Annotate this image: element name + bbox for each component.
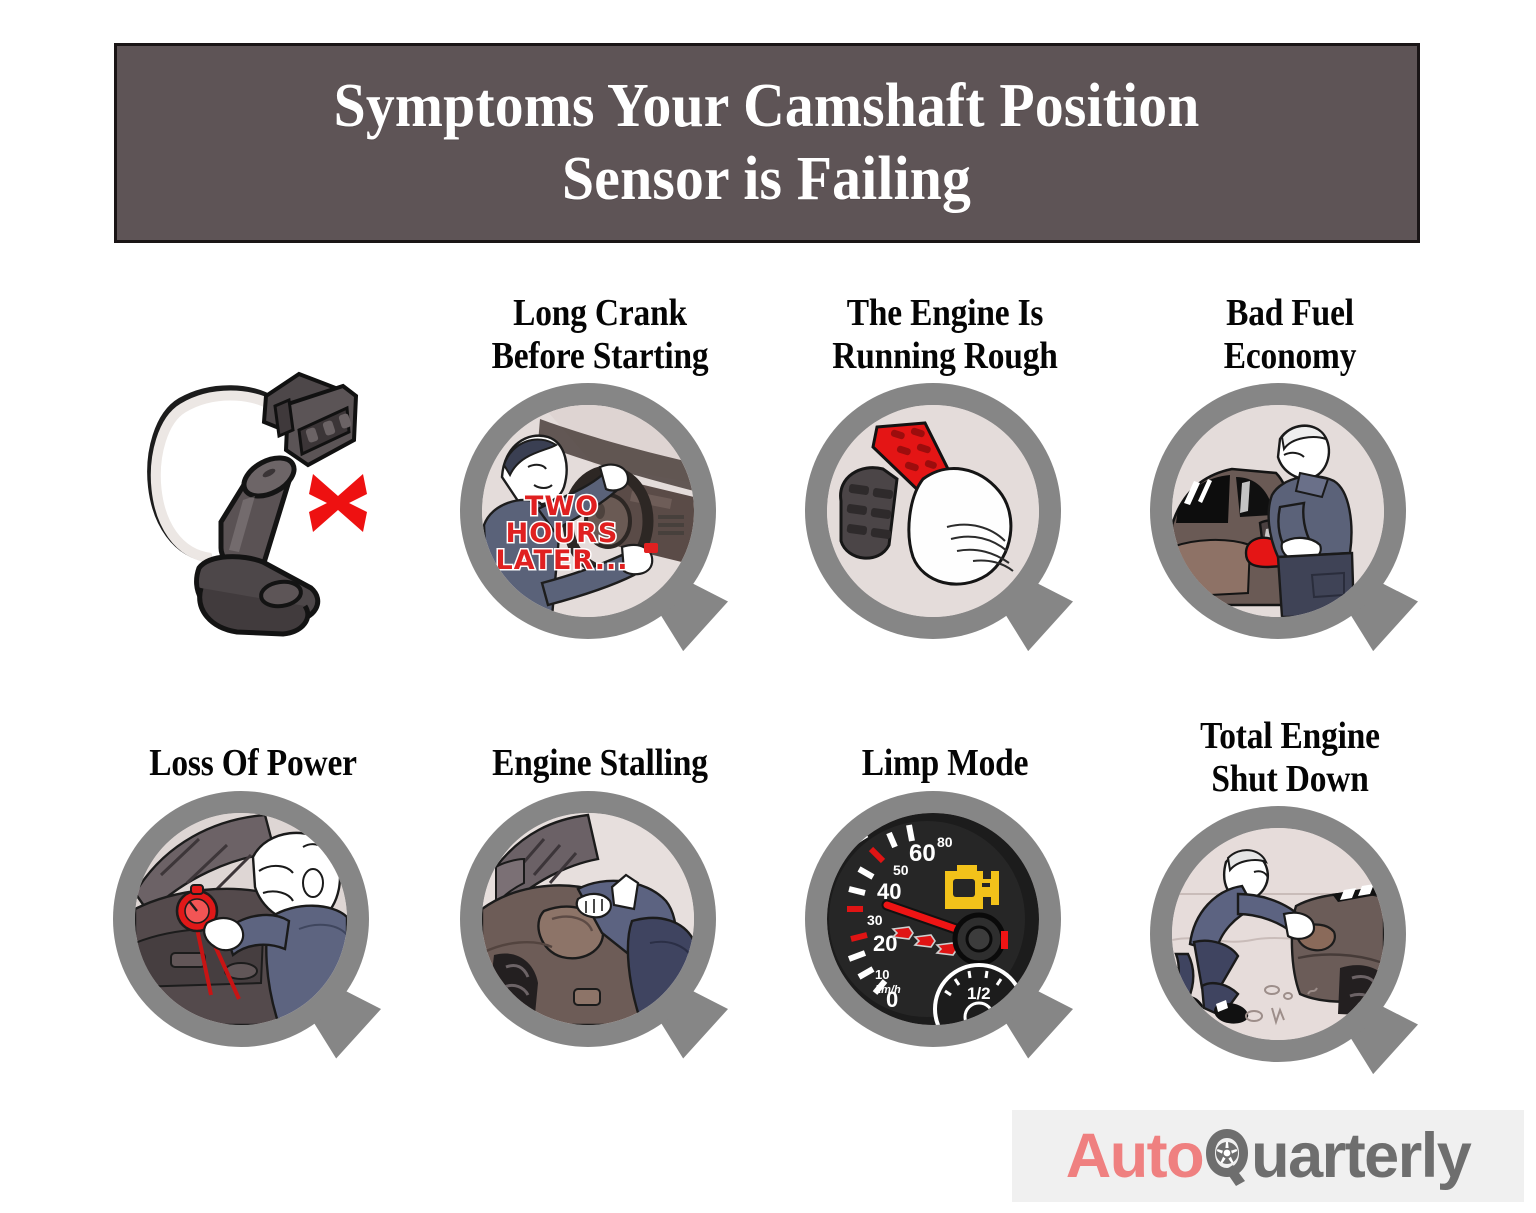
page-title-line2: Sensor is Failing [334,143,1200,216]
label-line2: Running Rough [800,335,1090,378]
q-frame-scene: TWO HOURS LATER... [482,405,694,617]
q-frame-scene [1172,828,1384,1040]
label-line1: Long Crank [455,292,745,335]
symptom-label-limp-mode: Limp Mode [800,742,1090,785]
label-line2: Before Starting [455,335,745,378]
gauge-tick-60: 60 [909,840,936,867]
label-line1: Bad Fuel [1145,292,1435,335]
comic-line3: LATER... [492,547,632,574]
q-frame-scene: 0 10 20 30 40 50 60 80 km/h [827,813,1039,1025]
icon-open-hood-inspection [460,791,740,1061]
icon-mechanic-pressure-gauge [113,791,393,1061]
camshaft-position-sensor-illustration [103,300,403,660]
symptom-loss-of-power: Loss Of Power [88,742,418,1061]
gauge-unit: km/h [875,984,901,996]
label-line2: Shut Down [1145,758,1435,801]
symptom-limp-mode: Limp Mode [780,742,1110,1061]
icon-driver-waiting-in-car: TWO HOURS LATER... [460,383,740,653]
page-title-line1: Symptoms Your Camshaft Position [334,70,1200,143]
icon-foot-on-accelerator [805,383,1085,653]
q-frame-scene [827,405,1039,617]
icon-man-refueling-car [1150,383,1430,653]
gauge-tick-30: 30 [867,912,883,928]
icon-speedometer-check-engine: 0 10 20 30 40 50 60 80 km/h [805,791,1085,1061]
label-line1: Engine Stalling [455,742,745,785]
mechanic-scene-svg [135,813,347,1025]
symptom-label-long-crank: Long Crank Before Starting [455,292,745,377]
brand-logo-quarterly: uarterly [1251,1120,1470,1192]
header-banner: Symptoms Your Camshaft Position Sensor i… [114,43,1420,243]
pushing-car-scene-svg [1172,828,1384,1040]
icon-man-pushing-broken-car [1150,806,1430,1076]
sensor-connector [264,374,356,465]
symptom-engine-stalling: Engine Stalling [435,742,765,1061]
symptom-long-crank: Long Crank Before Starting [435,292,765,653]
comic-line1: TWO [492,493,632,520]
symptom-label-running-rough: The Engine Is Running Rough [800,292,1090,377]
sensor-flange [197,557,318,634]
label-line1: The Engine Is [800,292,1090,335]
stalling-scene-svg [482,813,694,1025]
brand-logo-text: Auto uarterly [1066,1120,1471,1192]
label-line1: Total Engine [1145,715,1435,758]
wheel-q-icon [1203,1125,1251,1189]
page-title: Symptoms Your Camshaft Position Sensor i… [334,70,1200,216]
q-frame-scene [1172,405,1384,617]
label-line2: Economy [1145,335,1435,378]
q-frame-scene [135,813,347,1025]
symptom-running-rough: The Engine Is Running Rough [780,292,1110,653]
label-line1: Loss Of Power [108,742,398,785]
brand-logo-auto: Auto [1066,1120,1203,1192]
symptom-label-bad-fuel-economy: Bad Fuel Economy [1145,292,1435,377]
gauge-tick-10: 10 [875,967,889,982]
symptom-label-engine-stalling: Engine Stalling [455,742,745,785]
brand-logo-q-wheel-icon [1203,1120,1251,1192]
sensor-body [221,450,300,570]
camshaft-sensor-cell [88,300,418,660]
q-frame-scene [482,813,694,1025]
overlay-comic-text: TWO HOURS LATER... [492,493,632,574]
infographic-page: Symptoms Your Camshaft Position Sensor i… [0,0,1536,1213]
gauge-tick-20: 20 [873,931,897,956]
symptom-total-engine-shutdown: Total Engine Shut Down [1125,715,1455,1076]
fuel-level-label: 1/2 [967,984,991,1003]
symptom-bad-fuel-economy: Bad Fuel Economy [1125,292,1455,653]
red-x-mark-icon [303,468,373,538]
refuel-scene-svg [1172,405,1384,617]
speedometer-svg: 0 10 20 30 40 50 60 80 km/h [827,813,1039,1025]
gauge-tick-50: 50 [893,862,909,878]
symptom-label-total-engine-shutdown: Total Engine Shut Down [1145,715,1435,800]
pedal-scene-svg [827,405,1039,617]
label-line1: Limp Mode [800,742,1090,785]
comic-line2: HOURS [492,520,632,547]
brand-logo: Auto uarterly [1012,1110,1524,1202]
symptom-label-loss-of-power: Loss Of Power [108,742,398,785]
broken-car [1292,884,1384,1016]
gauge-tick-80: 80 [937,834,953,850]
brake-pedal [841,468,897,559]
